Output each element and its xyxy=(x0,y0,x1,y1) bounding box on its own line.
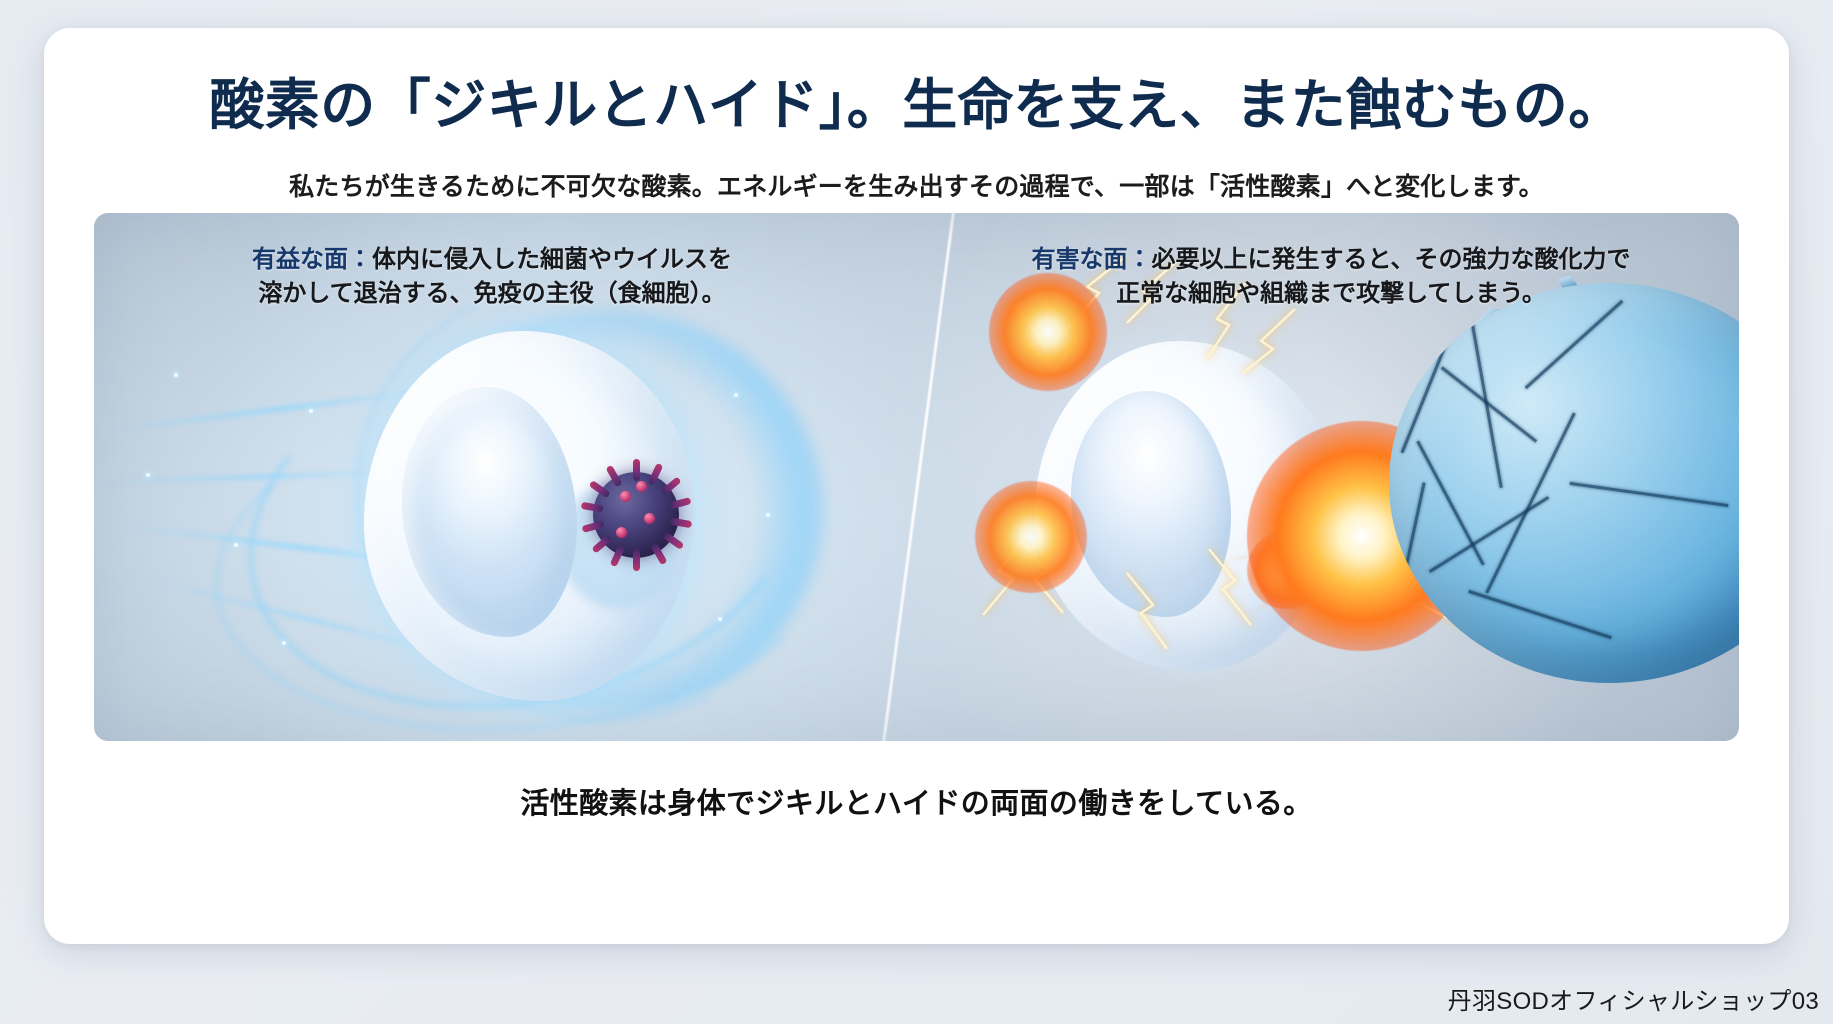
virus-spike xyxy=(633,549,640,571)
crack-line xyxy=(1570,482,1729,507)
crack-line xyxy=(1485,412,1575,593)
virus-receptor xyxy=(636,481,647,492)
crack-line xyxy=(1468,590,1612,639)
left-caption-text1: 体内に侵入した細菌やウイルスを xyxy=(372,246,732,273)
right-caption-text1: 必要以上に発生すると、その強力な酸化力で xyxy=(1151,246,1630,273)
particle-dot xyxy=(146,473,150,477)
right-caption-label: 有害な面： xyxy=(1031,246,1151,273)
left-caption-line2: 溶かして退治する、免疫の主役（食細胞）。 xyxy=(172,277,812,311)
summary-caption: 活性酸素は身体でジキルとハイドの両面の働きをしている。 xyxy=(44,780,1789,822)
left-caption-label: 有益な面： xyxy=(252,246,372,273)
right-caption-line1: 有害な面：必要以上に発生すると、その強力な酸化力で xyxy=(1001,243,1661,277)
energy-burst xyxy=(975,481,1087,593)
content-card: 酸素の「ジキルとハイド」。生命を支え、また蝕むもの。 私たちが生きるために不可欠… xyxy=(44,28,1789,944)
particle-dot xyxy=(309,409,313,413)
virus-icon xyxy=(572,451,700,579)
virus-receptor xyxy=(616,527,627,538)
crack-line xyxy=(1416,440,1484,565)
virus-receptor xyxy=(644,513,655,524)
page-title: 酸素の「ジキルとハイド」。生命を支え、また蝕むもの。 xyxy=(44,74,1789,139)
particle-dot xyxy=(282,641,286,645)
illustration-panel: 有益な面：体内に侵入した細菌やウイルスを 溶かして退治する、免疫の主役（食細胞）… xyxy=(94,213,1739,741)
right-caption: 有害な面：必要以上に発生すると、その強力な酸化力で 正常な細胞や組織まで攻撃して… xyxy=(1001,243,1661,311)
crack-line xyxy=(1429,496,1549,573)
page-subtitle: 私たちが生きるために不可欠な酸素。エネルギーを生み出すその過程で、一部は「活性酸… xyxy=(44,170,1789,205)
left-caption-line1: 有益な面：体内に侵入した細菌やウイルスを xyxy=(172,243,812,277)
particle-dot xyxy=(234,543,238,547)
particle-dot xyxy=(718,617,722,621)
footer-shop-label: 丹羽SODオフィシャルショップ03 xyxy=(1448,981,1819,1016)
left-caption: 有益な面：体内に侵入した細菌やウイルスを 溶かして退治する、免疫の主役（食細胞）… xyxy=(172,243,812,311)
right-caption-line2: 正常な細胞や組織まで攻撃してしまう。 xyxy=(1001,277,1661,311)
particle-dot xyxy=(174,373,178,377)
virus-receptor xyxy=(620,491,631,502)
crack-line xyxy=(1401,341,1449,453)
virus-spike xyxy=(633,459,640,481)
particle-dot xyxy=(734,393,738,397)
crack-line xyxy=(1525,300,1624,389)
particle-dot xyxy=(766,513,770,517)
